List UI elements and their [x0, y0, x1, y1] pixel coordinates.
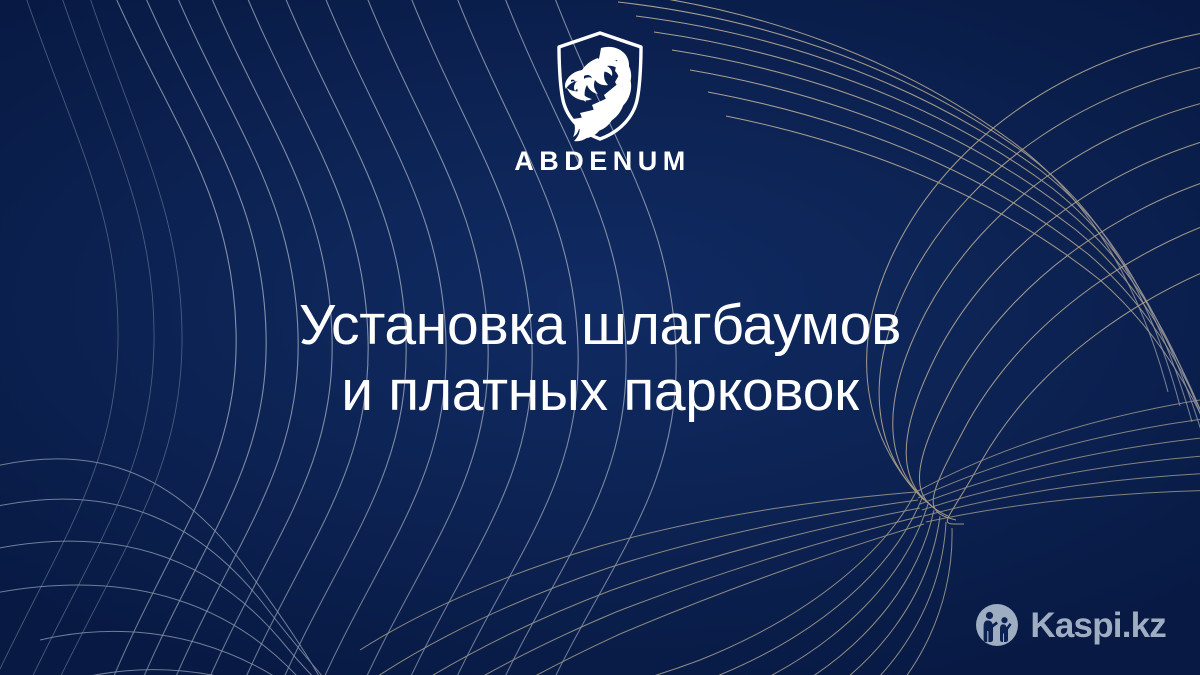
page-title: Установка шлагбаумов и платных парковок — [0, 292, 1200, 424]
kaspi-wordmark: Kaspi.kz — [1030, 608, 1166, 643]
brand-lockup: ABDENUM — [0, 30, 1200, 175]
wave-group-node-lower — [520, 492, 952, 675]
wave-group-left-bottom — [0, 459, 392, 675]
wave-group-node-left — [360, 492, 924, 675]
brand-wordmark: ABDENUM — [509, 148, 691, 175]
kaspi-partner-badge: Kaspi.kz — [975, 603, 1166, 647]
promo-banner: ABDENUM Установка шлагбаумов и платных п… — [0, 0, 1200, 675]
kaspi-people-circle-icon — [975, 603, 1019, 647]
lion-shield-icon — [554, 30, 646, 142]
headline-line-1: Установка шлагбаумов — [0, 292, 1200, 358]
headline-line-2: и платных парковок — [0, 358, 1200, 424]
